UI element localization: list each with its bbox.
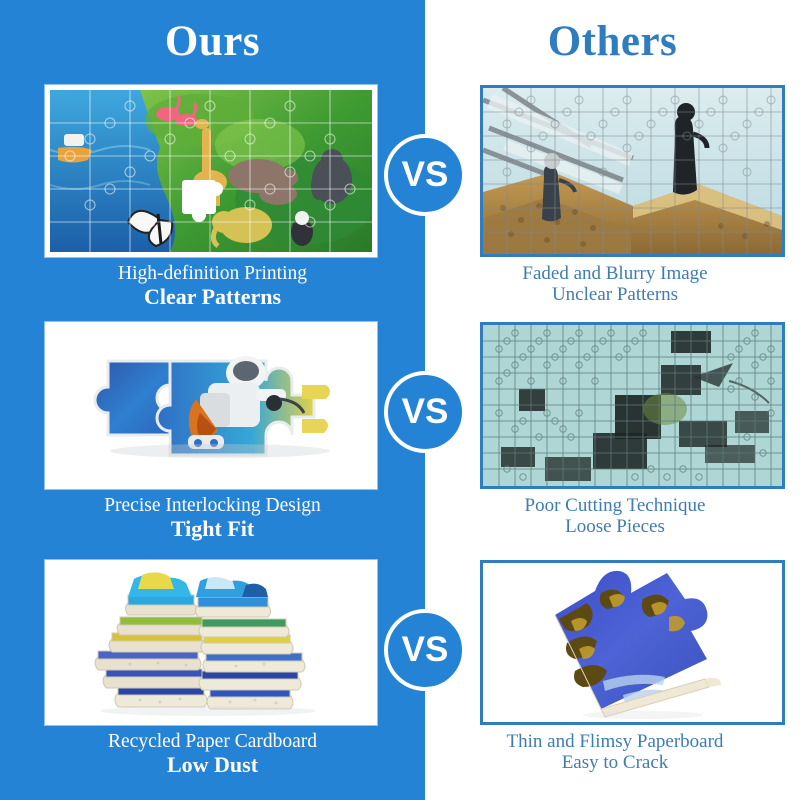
ours-image-frame-printing	[45, 85, 377, 257]
ours-image-frame-interlocking	[45, 322, 377, 489]
caption-line-1: Poor Cutting Technique	[445, 495, 785, 516]
caption-line-1: High-definition Printing	[20, 263, 405, 285]
others-caption-thin-piece: Thin and Flimsy Paperboard Easy to Crack	[445, 731, 785, 774]
others-image-frame-cutting	[480, 322, 785, 489]
caption-line-2: Loose Pieces	[445, 516, 785, 537]
caption-line-2: Low Dust	[20, 753, 405, 778]
others-image-frame-printing	[480, 85, 785, 257]
ours-caption-printing: High-definition Printing Clear Patterns	[20, 263, 405, 309]
interlocked-puzzle-pieces-photo	[50, 327, 372, 484]
thick-cardboard-piece-stack-photo	[50, 565, 372, 720]
comparison-infographic: Ours Others	[0, 0, 800, 800]
caption-line-2: Easy to Crack	[445, 752, 785, 773]
others-caption-printing: Faded and Blurry Image Unclear Patterns	[445, 263, 785, 306]
ours-caption-interlocking: Precise Interlocking Design Tight Fit	[20, 495, 405, 541]
caption-line-1: Faded and Blurry Image	[445, 263, 785, 284]
vs-badge-row-1: VS	[384, 134, 466, 216]
caption-line-1: Recycled Paper Cardboard	[20, 731, 405, 753]
vs-badge-row-3: VS	[384, 609, 466, 691]
caption-line-1: Precise Interlocking Design	[20, 495, 405, 517]
others-caption-cutting: Poor Cutting Technique Loose Pieces	[445, 495, 785, 538]
caption-line-1: Thin and Flimsy Paperboard	[445, 731, 785, 752]
faded-blurry-rooftop-puzzle-photo	[483, 88, 782, 254]
vs-badge-row-2: VS	[384, 371, 466, 453]
caption-line-2: Unclear Patterns	[445, 284, 785, 305]
ours-caption-cardboard: Recycled Paper Cardboard Low Dust	[20, 731, 405, 777]
loose-pieces-gaps-puzzle-photo	[483, 325, 782, 486]
thin-flimsy-single-piece-photo	[483, 563, 782, 722]
caption-line-2: Tight Fit	[20, 517, 405, 542]
ours-image-frame-cardboard	[45, 560, 377, 725]
heading-ours: Ours	[0, 20, 425, 63]
heading-others: Others	[425, 20, 800, 63]
jungle-animals-puzzle-photo	[50, 90, 372, 252]
others-image-frame-thin-piece	[480, 560, 785, 725]
caption-line-2: Clear Patterns	[20, 285, 405, 310]
